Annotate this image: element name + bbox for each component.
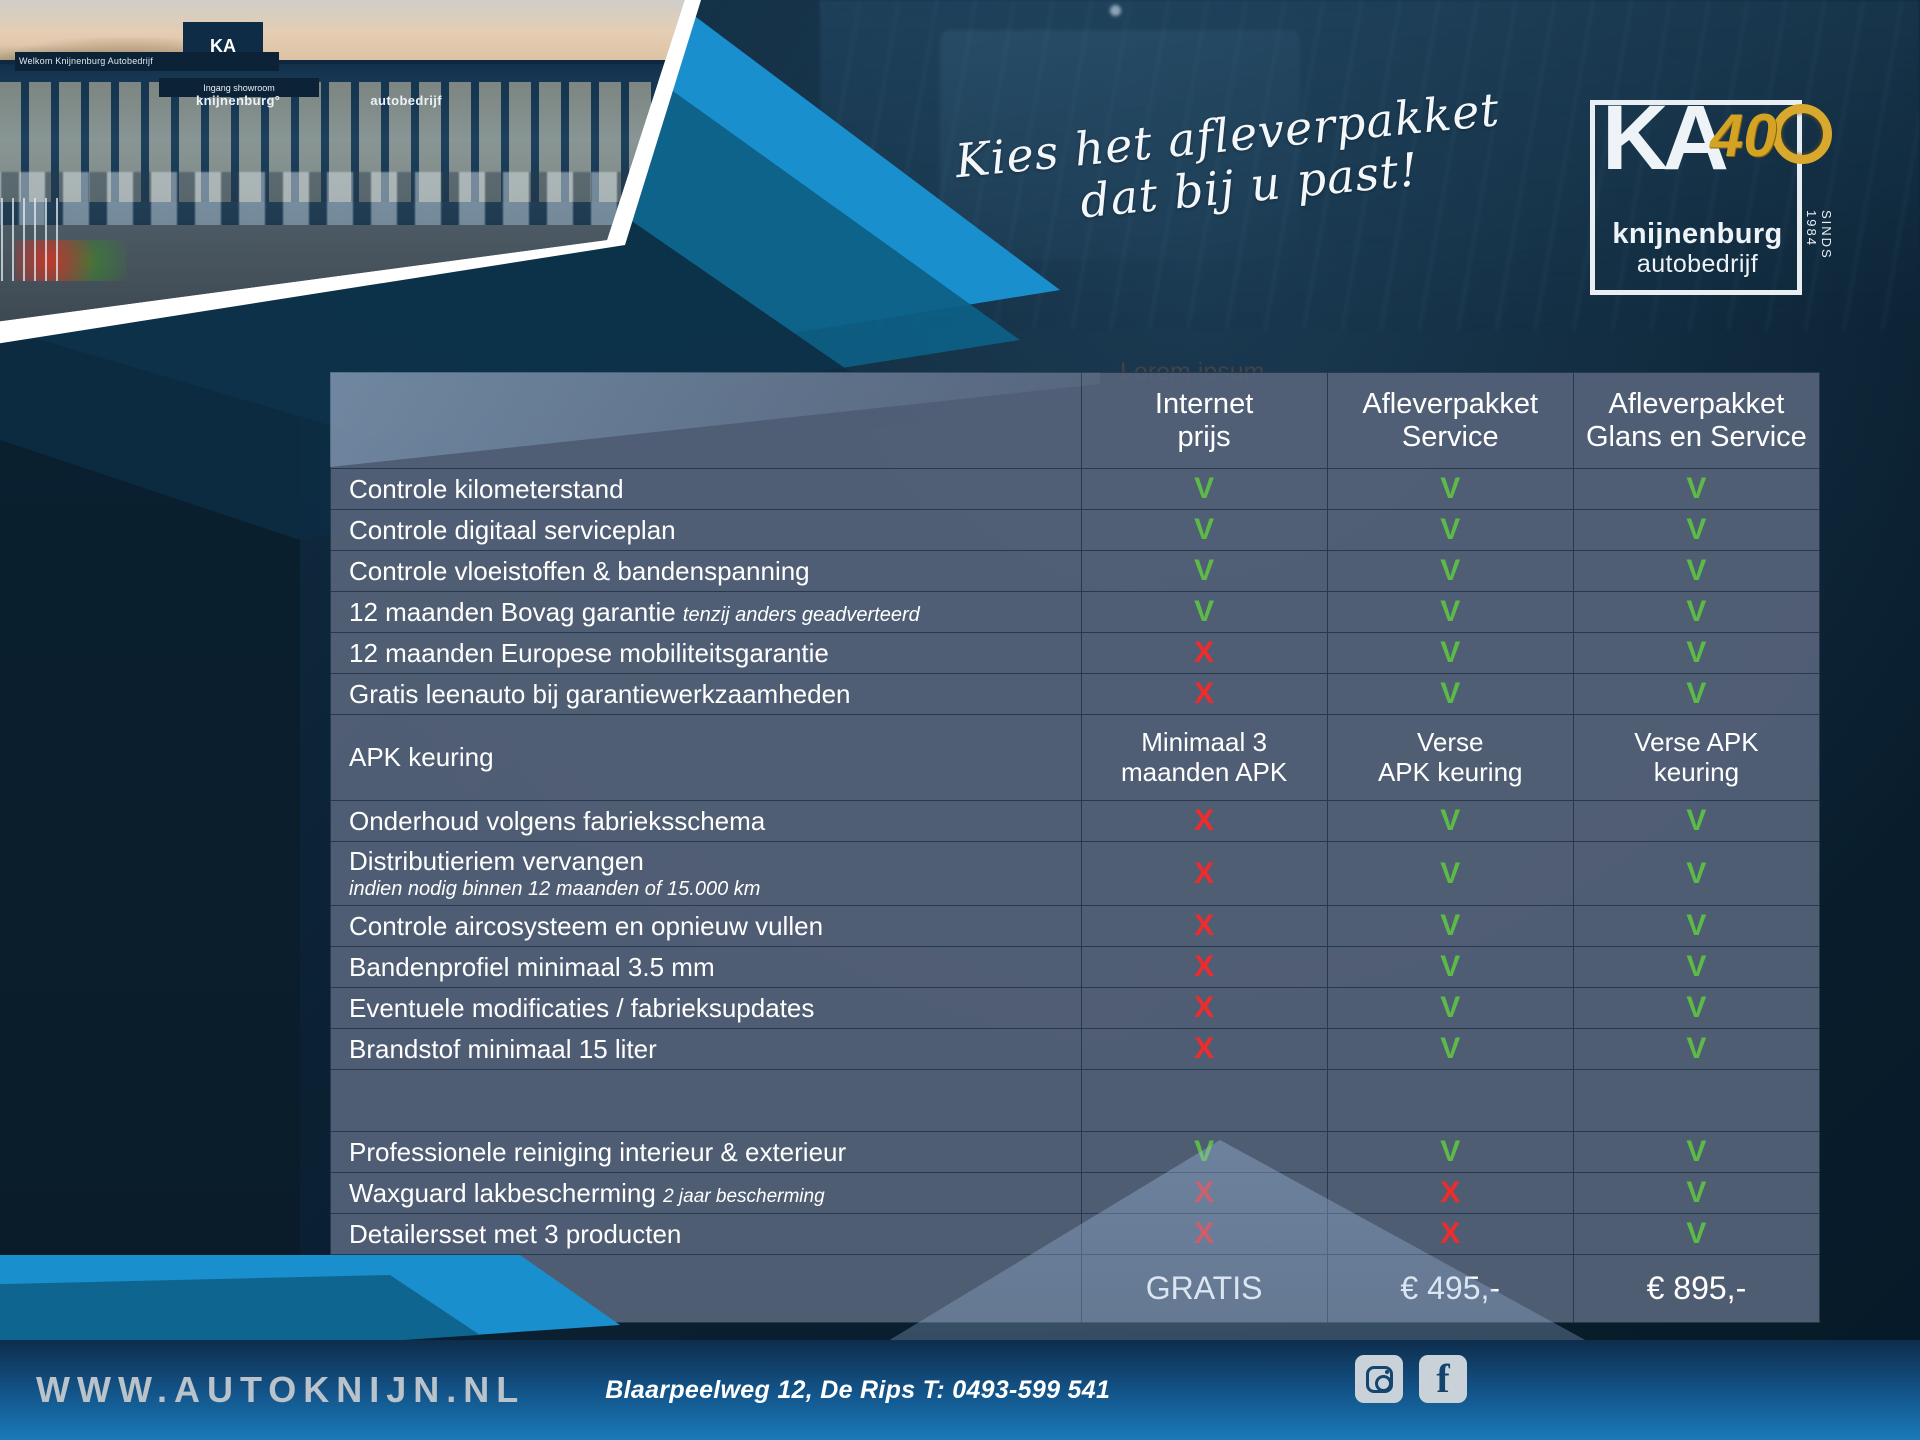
check-icon: V [1686, 950, 1706, 983]
feature-label: Bandenprofiel minimaal 3.5 mm [331, 947, 1082, 988]
cross-icon: X [1194, 909, 1214, 942]
check-icon: V [1686, 1217, 1706, 1250]
check-icon: V [1686, 909, 1706, 942]
feature-label: Controle aircosysteem en opnieuw vullen [331, 906, 1082, 947]
cell-check-yes: V [1573, 842, 1819, 906]
check-icon: V [1194, 472, 1214, 505]
cost-value-3: € 895,- [1573, 1255, 1819, 1323]
feature-label: Controle digitaal serviceplan [331, 510, 1082, 551]
check-icon: V [1686, 991, 1706, 1024]
feature-label: Distributieriem vervangenindien nodig bi… [331, 842, 1082, 906]
cell-check-yes: V [1573, 674, 1819, 715]
table-row: APK keuringMinimaal 3maanden APKVerseAPK… [331, 715, 1820, 801]
table-row: Controle aircosysteem en opnieuw vullenX… [331, 906, 1820, 947]
column-header-2: AfleverpakketService [1327, 373, 1573, 469]
company-logo: KA 40 knijnenburg autobedrijf SINDS 1984 [1590, 100, 1840, 300]
check-icon: V [1686, 804, 1706, 837]
cell-check-yes: V [1327, 510, 1573, 551]
cross-icon: X [1194, 857, 1214, 890]
feature-label [331, 1070, 1082, 1132]
check-icon: V [1686, 1176, 1706, 1209]
table-row: Gratis leenauto bij garantiewerkzaamhede… [331, 674, 1820, 715]
cell-check-yes: V [1327, 592, 1573, 633]
feature-label: Detailersset met 3 producten [331, 1214, 1082, 1255]
cell-check-yes: V [1573, 592, 1819, 633]
cell-text: Minimaal 3maanden APK [1081, 715, 1327, 801]
cross-icon: X [1194, 677, 1214, 710]
cell-check-yes: V [1573, 947, 1819, 988]
feature-label: Eventuele modificaties / fabrieksupdates [331, 988, 1082, 1029]
footer-address: Blaarpeelweg 12, De Rips T: 0493-599 541 [605, 1376, 1110, 1405]
instagram-icon[interactable] [1355, 1355, 1403, 1403]
logo-since-text: SINDS 1984 [1804, 210, 1834, 300]
cross-icon: X [1194, 1032, 1214, 1065]
cell-check-yes: V [1327, 947, 1573, 988]
column-header-line-1: Internet [1155, 388, 1253, 420]
check-icon: V [1440, 804, 1460, 837]
cost-value-2: € 495,- [1327, 1255, 1573, 1323]
cell-check-yes: V [1573, 1132, 1819, 1173]
check-icon: V [1686, 1135, 1706, 1168]
photo-welcome-sign: Welkom Knijnenburg Autobedrijf [15, 52, 279, 71]
check-icon: V [1440, 857, 1460, 890]
cell-check-yes: V [1573, 510, 1819, 551]
feature-label-subline: indien nodig binnen 12 maanden of 15.000… [349, 878, 1081, 901]
logo-company-name: knijnenburg [1600, 218, 1795, 251]
cell-empty [1327, 1070, 1573, 1132]
cross-icon: X [1194, 804, 1214, 837]
table-spacer-row [331, 1070, 1820, 1132]
photo-fence [0, 198, 63, 281]
check-icon: V [1194, 1135, 1214, 1168]
cell-empty [1081, 1070, 1327, 1132]
cell-cross-no: X [1081, 1029, 1327, 1070]
cell-check-yes: V [1327, 988, 1573, 1029]
cell-text: VerseAPK keuring [1327, 715, 1573, 801]
table-row: Detailersset met 3 productenXXV [331, 1214, 1820, 1255]
feature-label-note: tenzij anders geadverteerd [683, 604, 920, 626]
check-icon: V [1440, 554, 1460, 587]
check-icon: V [1686, 472, 1706, 505]
check-icon: V [1440, 513, 1460, 546]
check-icon: V [1686, 595, 1706, 628]
photo-brand-strip: knijnenburg° autobedrijf [151, 88, 487, 114]
cell-check-yes: V [1573, 469, 1819, 510]
feature-label: Brandstof minimaal 15 liter [331, 1029, 1082, 1070]
cross-icon: X [1194, 950, 1214, 983]
photo-brand-right: autobedrijf [370, 93, 442, 108]
check-icon: V [1686, 677, 1706, 710]
cell-check-yes: V [1081, 510, 1327, 551]
table-row: Distributieriem vervangenindien nodig bi… [331, 842, 1820, 906]
table-row: Brandstof minimaal 15 literXVV [331, 1029, 1820, 1070]
cross-icon: X [1440, 1217, 1460, 1250]
cell-cross-no: X [1081, 801, 1327, 842]
check-icon: V [1440, 950, 1460, 983]
column-header-line-2: prijs [1177, 421, 1230, 453]
cell-check-yes: V [1081, 551, 1327, 592]
cell-check-yes: V [1327, 633, 1573, 674]
table-row: Controle kilometerstandVVV [331, 469, 1820, 510]
logo-company-subtitle: autobedrijf [1600, 250, 1795, 279]
cell-check-yes: V [1327, 469, 1573, 510]
cell-cross-no: X [1081, 988, 1327, 1029]
check-icon: V [1440, 677, 1460, 710]
check-icon: V [1440, 636, 1460, 669]
check-icon: V [1686, 554, 1706, 587]
column-header-line-2: Glans en Service [1586, 421, 1807, 453]
logo-anniversary: 40 [1710, 106, 1777, 166]
cell-cross-no: X [1081, 947, 1327, 988]
feature-label: APK keuring [331, 715, 1082, 801]
table-row: Controle digitaal serviceplanVVV [331, 510, 1820, 551]
cell-check-yes: V [1327, 801, 1573, 842]
cross-icon: X [1194, 1217, 1214, 1250]
cell-check-yes: V [1573, 1214, 1819, 1255]
column-header-line-1: Afleverpakket [1609, 388, 1785, 420]
feature-label: Onderhoud volgens fabrieksschema [331, 801, 1082, 842]
table-row: 12 maanden Bovag garantie tenzij anders … [331, 592, 1820, 633]
facebook-glyph: f [1436, 1361, 1449, 1397]
cell-cross-no: X [1081, 674, 1327, 715]
cost-value-1: GRATIS [1081, 1255, 1327, 1323]
feature-label: 12 maanden Bovag garantie tenzij anders … [331, 592, 1082, 633]
cell-cross-no: X [1081, 906, 1327, 947]
feature-label: Professionele reiniging interieur & exte… [331, 1132, 1082, 1173]
comparison-table-container: InternetprijsAfleverpakketServiceAflever… [330, 372, 1820, 1323]
table-row: Eventuele modificaties / fabrieksupdates… [331, 988, 1820, 1029]
cell-check-yes: V [1327, 842, 1573, 906]
cell-check-yes: V [1081, 469, 1327, 510]
table-row: Professionele reiniging interieur & exte… [331, 1132, 1820, 1173]
cell-check-yes: V [1081, 592, 1327, 633]
cross-icon: X [1194, 991, 1214, 1024]
cell-check-yes: V [1327, 1029, 1573, 1070]
check-icon: V [1686, 1032, 1706, 1065]
logo-monogram: KA [1602, 92, 1723, 184]
flyer-page: KA Welkom Knijnenburg Autobedrijf Ingang… [0, 0, 1920, 1440]
feature-label: Gratis leenauto bij garantiewerkzaamhede… [331, 674, 1082, 715]
cell-check-yes: V [1327, 1132, 1573, 1173]
check-icon: V [1686, 636, 1706, 669]
footer-social-links: f [1355, 1355, 1467, 1403]
photo-cars [0, 172, 695, 232]
cell-check-yes: V [1573, 801, 1819, 842]
cell-cross-no: X [1327, 1173, 1573, 1214]
cell-text: Verse APKkeuring [1573, 715, 1819, 801]
cross-icon: X [1194, 636, 1214, 669]
cell-check-yes: V [1327, 906, 1573, 947]
cell-check-yes: V [1327, 674, 1573, 715]
cell-check-yes: V [1081, 1132, 1327, 1173]
check-icon: V [1440, 909, 1460, 942]
check-icon: V [1194, 513, 1214, 546]
table-row: Controle vloeistoffen & bandenspanningVV… [331, 551, 1820, 592]
cell-cross-no: X [1081, 842, 1327, 906]
check-icon: V [1440, 1032, 1460, 1065]
feature-label: Waxguard lakbescherming 2 jaar beschermi… [331, 1173, 1082, 1214]
check-icon: V [1194, 554, 1214, 587]
table-header-blank-cell [331, 373, 1082, 469]
cell-check-yes: V [1573, 988, 1819, 1029]
comparison-table: InternetprijsAfleverpakketServiceAflever… [330, 372, 1820, 1323]
table-row: 12 maanden Europese mobiliteitsgarantieX… [331, 633, 1820, 674]
cell-cross-no: X [1081, 633, 1327, 674]
column-header-line-1: Afleverpakket [1362, 388, 1538, 420]
facebook-icon[interactable]: f [1419, 1355, 1467, 1403]
column-header-1: Internetprijs [1081, 373, 1327, 469]
cell-check-yes: V [1573, 633, 1819, 674]
feature-label: Controle kilometerstand [331, 469, 1082, 510]
cross-icon: X [1194, 1176, 1214, 1209]
footer-bar: WWW.AUTOKNIJN.NL Blaarpeelweg 12, De Rip… [0, 1340, 1920, 1440]
table-row: Waxguard lakbescherming 2 jaar beschermi… [331, 1173, 1820, 1214]
check-icon: V [1686, 513, 1706, 546]
cell-check-yes: V [1573, 1173, 1819, 1214]
check-icon: V [1440, 991, 1460, 1024]
footer-website-link[interactable]: WWW.AUTOKNIJN.NL [36, 1369, 525, 1411]
logo-ring-icon [1772, 104, 1832, 164]
column-header-line-2: Service [1402, 421, 1499, 453]
column-header-3: AfleverpakketGlans en Service [1573, 373, 1819, 469]
table-header-row: InternetprijsAfleverpakketServiceAflever… [331, 373, 1820, 469]
table-row: Bandenprofiel minimaal 3.5 mmXVV [331, 947, 1820, 988]
table-row: Onderhoud volgens fabrieksschemaXVV [331, 801, 1820, 842]
feature-label: 12 maanden Europese mobiliteitsgarantie [331, 633, 1082, 674]
cell-empty [1573, 1070, 1819, 1132]
cell-cross-no: X [1081, 1214, 1327, 1255]
cell-check-yes: V [1327, 551, 1573, 592]
cell-check-yes: V [1573, 1029, 1819, 1070]
cell-cross-no: X [1081, 1173, 1327, 1214]
cell-cross-no: X [1327, 1214, 1573, 1255]
feature-label-note: 2 jaar bescherming [663, 1186, 825, 1207]
feature-label: Controle vloeistoffen & bandenspanning [331, 551, 1082, 592]
photo-brand-left: knijnenburg° [196, 93, 280, 108]
check-icon: V [1440, 1135, 1460, 1168]
cell-check-yes: V [1573, 906, 1819, 947]
check-icon: V [1686, 857, 1706, 890]
check-icon: V [1440, 472, 1460, 505]
cross-icon: X [1440, 1176, 1460, 1209]
check-icon: V [1440, 595, 1460, 628]
check-icon: V [1194, 595, 1214, 628]
cell-check-yes: V [1573, 551, 1819, 592]
